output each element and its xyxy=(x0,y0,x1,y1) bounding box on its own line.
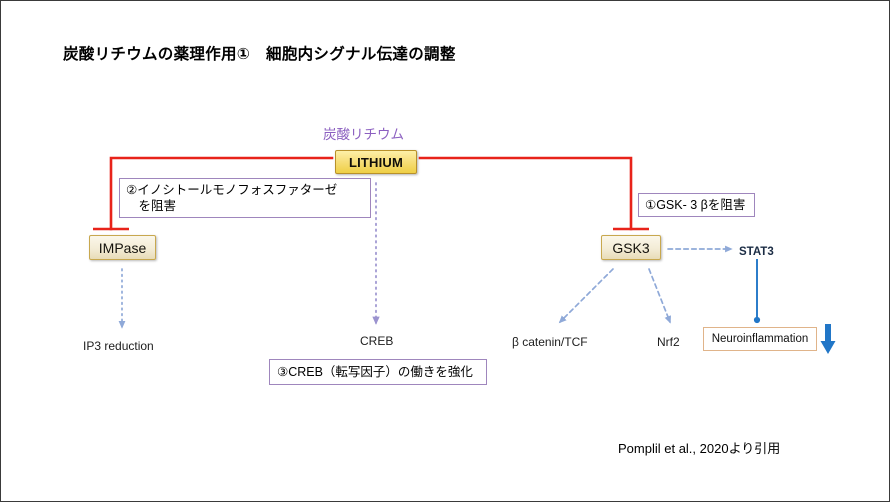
box-neuroinflammation: Neuroinflammation xyxy=(703,327,817,351)
label-creb: CREB xyxy=(360,334,393,348)
citation-text: Pomplil et al., 2020より引用 xyxy=(618,438,780,457)
label-ip3-reduction: IP3 reduction xyxy=(83,339,154,353)
node-gsk3[interactable]: GSK3 xyxy=(601,235,661,260)
slide-canvas: 炭酸リチウムの薬理作用① 細胞内シグナル伝達の調整 炭酸リチウム LITHIUM… xyxy=(0,0,890,502)
label-beta-catenin-tcf: β catenin/TCF xyxy=(512,335,588,349)
node-impase[interactable]: IMPase xyxy=(89,235,156,260)
label-nrf2: Nrf2 xyxy=(657,335,680,349)
arrow-gsk3-to-nrf2 xyxy=(649,269,670,322)
page-title: 炭酸リチウムの薬理作用① 細胞内シグナル伝達の調整 xyxy=(63,42,456,64)
lithium-caption: 炭酸リチウム xyxy=(323,123,404,143)
label-stat3: STAT3 xyxy=(739,246,774,258)
node-lithium[interactable]: LITHIUM xyxy=(335,150,417,174)
arrow-gsk3-to-beta-catenin xyxy=(560,269,613,322)
callout-creb-enhancement: ③CREB（転写因子）の働きを強化 xyxy=(269,359,487,385)
down-arrow-icon xyxy=(820,324,836,355)
connector-stat3-to-neuroinflammation xyxy=(754,259,760,323)
callout-impase-inhibition: ②イノシトールモノフォスファターゼ を阻害 xyxy=(119,178,371,218)
inhibition-connector-gsk3 xyxy=(420,158,649,229)
callout-gsk3-inhibition: ①GSK- 3 βを阻害 xyxy=(638,193,755,217)
